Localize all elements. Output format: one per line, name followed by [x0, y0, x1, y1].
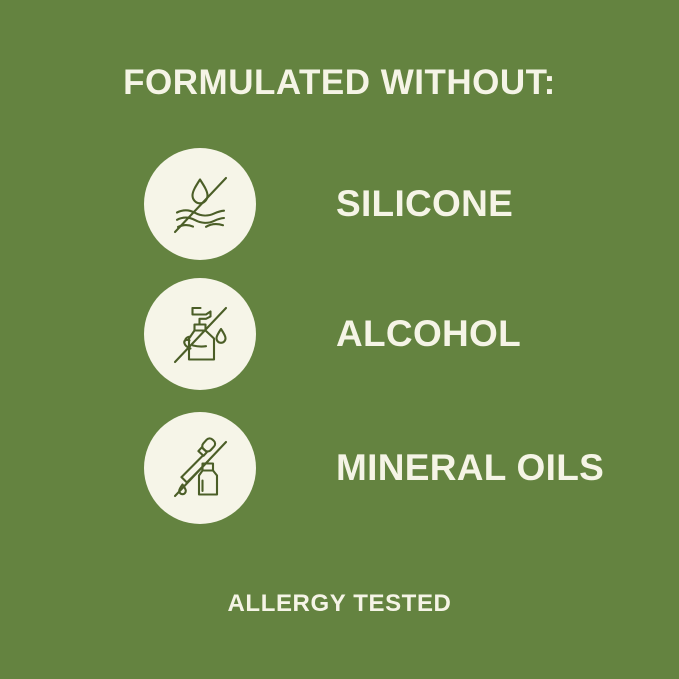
list-item: SILICONE — [0, 148, 679, 260]
no-mineral-oils-badge — [144, 412, 256, 524]
no-mineral-oils-dropper-bottle-icon — [162, 430, 238, 506]
no-silicone-badge — [144, 148, 256, 260]
claim-label: ALCOHOL — [336, 278, 521, 390]
claim-label: SILICONE — [336, 148, 513, 260]
allergy-tested-note: ALLERGY TESTED — [0, 590, 679, 618]
no-alcohol-pump-bottle-icon — [162, 296, 238, 372]
list-item: ALCOHOL — [0, 278, 679, 390]
no-silicone-droplet-waves-icon — [162, 166, 238, 242]
claims-list: SILICONE — [0, 148, 679, 542]
no-alcohol-badge — [144, 278, 256, 390]
claim-label: MINERAL OILS — [336, 412, 604, 524]
list-item: MINERAL OILS — [0, 412, 679, 524]
page-title: FORMULATED WITHOUT: — [0, 62, 679, 104]
formulated-without-panel: FORMULATED WITHOUT: SILICO — [0, 0, 679, 679]
